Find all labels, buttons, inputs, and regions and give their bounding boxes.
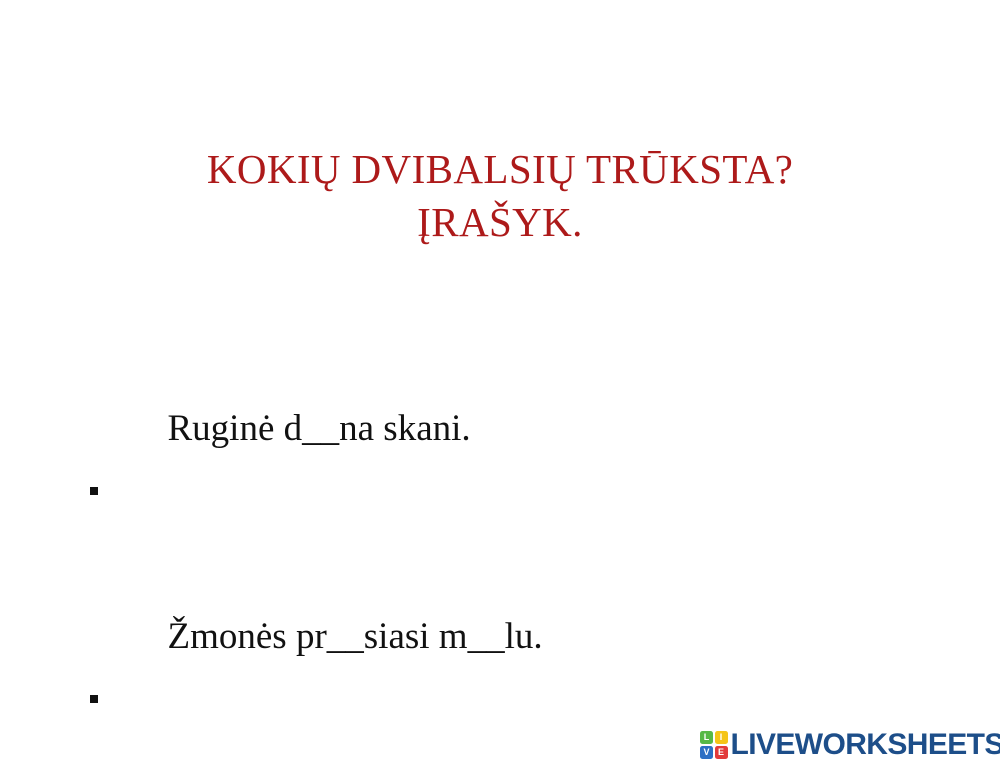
page-title-line-1: KOKIŲ DVIBALSIŲ TRŪKSTA? xyxy=(0,143,1000,196)
bullet-square-icon xyxy=(90,487,98,495)
list-item: Ruginė d__na skani. xyxy=(88,299,948,507)
sentence-text: Žmonės pr__siasi m__lu. xyxy=(168,616,543,657)
page-title: KOKIŲ DVIBALSIŲ TRŪKSTA? ĮRAŠYK. xyxy=(0,143,1000,249)
liveworksheets-logo[interactable]: L I V E LIVEWORKSHEETS xyxy=(700,730,1000,760)
list-item: Žmonės pr__siasi m__lu. xyxy=(88,507,948,715)
logo-tile-e: E xyxy=(715,746,728,759)
worksheet-page: KOKIŲ DVIBALSIŲ TRŪKSTA? ĮRAŠYK. Ruginė … xyxy=(0,0,1000,772)
liveworksheets-logo-mark-icon: L I V E xyxy=(700,731,728,759)
page-title-line-2: ĮRAŠYK. xyxy=(0,196,1000,249)
bullet-square-icon xyxy=(90,695,98,703)
logo-tile-l: L xyxy=(700,731,713,744)
exercise-sentence-list: Ruginė d__na skani. Žmonės pr__siasi m__… xyxy=(88,299,948,772)
logo-tile-v: V xyxy=(700,746,713,759)
logo-tile-i: I xyxy=(715,731,728,744)
liveworksheets-wordmark: LIVEWORKSHEETS xyxy=(731,730,1000,760)
sentence-text: Ruginė d__na skani. xyxy=(168,408,471,449)
